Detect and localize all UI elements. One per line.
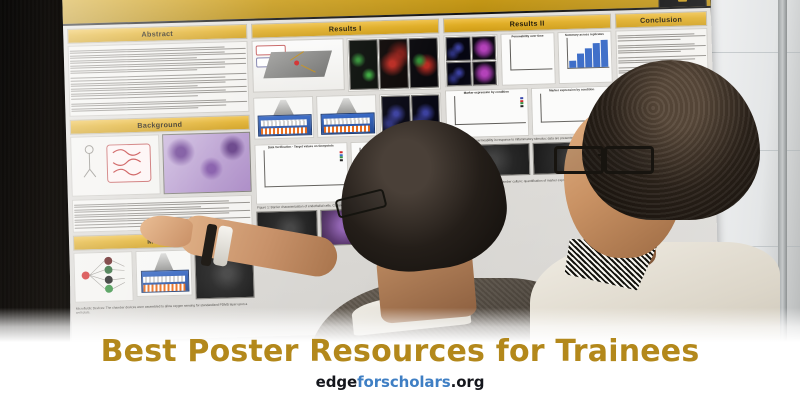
micrograph-dapi-3 [445,37,470,62]
results1-top [251,35,441,97]
eyeglasses-right [554,146,666,168]
poster-column-1: Abstract Background [67,21,256,342]
micrograph-panel-row [346,35,441,92]
chip-schematic [251,38,344,93]
person-listening [530,60,790,346]
micrograph-red [378,38,409,89]
micrograph-green [348,39,379,90]
background-schematic [70,134,160,196]
poster-authors: Research Center, Vanderbilt University M… [172,0,662,2]
banner-headline: Best Poster Resources for Trainees [0,336,800,368]
banner-image: Microfluidic Organ-on-Chip Models of the… [0,0,800,400]
micrograph-magenta-1 [471,36,496,61]
dark-curtain-background [0,0,70,346]
methods-device-diagram [136,250,193,298]
methods-flow-diagram [73,251,134,303]
micrograph-merge [408,38,439,89]
section-header-conclusion: Conclusion [615,11,707,29]
hair-right [582,60,760,220]
micrograph-magenta-2 [472,61,497,86]
micrograph-dapi-4 [446,62,471,87]
banner-caption: Best Poster Resources for Trainees edgef… [0,336,800,391]
chart-legend [520,98,523,108]
site-url-part1: edge [316,373,357,391]
micrograph-tissue [162,132,252,194]
micrograph-quad [443,34,498,87]
abstract-body-text [68,41,250,117]
site-url-part3: .org [451,373,485,391]
site-url[interactable]: edgeforscholars.org [0,373,800,391]
photograph: Microfluidic Organ-on-Chip Models of the… [0,0,800,346]
site-url-part2: forscholars [357,373,451,391]
background-figures [70,132,252,200]
